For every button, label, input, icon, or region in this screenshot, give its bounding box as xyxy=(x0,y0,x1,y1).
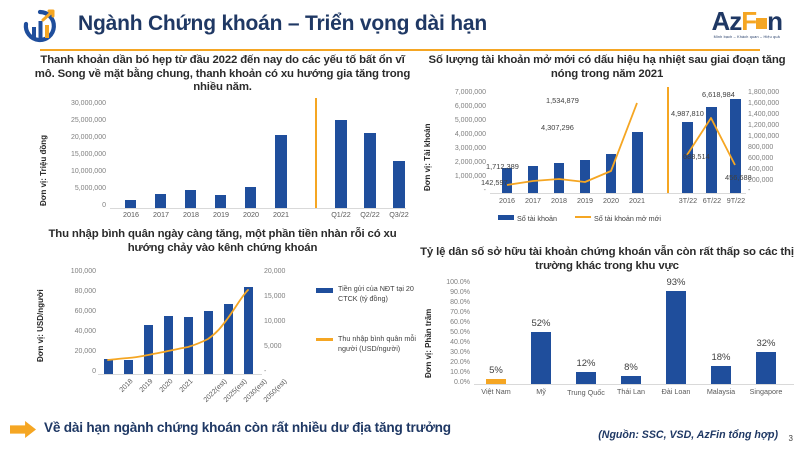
ownership-data-label: 93% xyxy=(666,277,686,288)
ownership-data-label: 32% xyxy=(756,338,776,349)
ownership-bar xyxy=(666,291,686,384)
chart-growth-logo-icon xyxy=(22,8,64,44)
accounts-data-label: 6,618,984 xyxy=(702,90,735,99)
ownership-bar-highlight xyxy=(486,379,506,384)
liquidity-bar xyxy=(245,187,256,208)
azfin-f: F xyxy=(741,6,756,36)
liquidity-bar xyxy=(275,135,287,208)
income-legend-item: Thu nhập bình quân mỗi người (USD/người) xyxy=(338,334,416,353)
ownership-bar xyxy=(576,372,596,384)
liquidity-ytick: 25,000,000 xyxy=(42,117,106,125)
liquidity-ytick: 5,000,000 xyxy=(42,185,106,193)
page-title: Ngành Chứng khoán – Triển vọng dài hạn xyxy=(78,12,487,36)
liquidity-ytick: 30,000,000 xyxy=(42,100,106,108)
liquidity-period-separator xyxy=(315,98,317,208)
liquidity-bar xyxy=(185,190,196,208)
ownership-ytick: 60.0% xyxy=(426,319,470,327)
header-divider xyxy=(40,49,760,51)
accounts-data-label: 4,307,296 xyxy=(541,123,574,132)
ownership-data-label: 8% xyxy=(621,362,641,373)
ownership-xtick: Đài Loan xyxy=(654,388,698,396)
income-legend-item: Tiền gửi của NĐT tại 20 CTCK (tỷ đồng) xyxy=(338,284,416,303)
ownership-ytick: 20.0% xyxy=(426,359,470,367)
azfin-n: n xyxy=(767,6,782,36)
income-plot: Đơn vị: USD/người 100,000 80,000 60,000 … xyxy=(30,266,415,416)
liquidity-xtick: Q3/22 xyxy=(378,211,420,219)
legend-line-swatch-icon xyxy=(316,338,333,341)
azfin-logo: AzFn Minh bạch – Khách quan – Hiệu quả xyxy=(711,8,782,39)
accounts-data-label: 1,534,879 xyxy=(546,96,579,105)
income-chart-title: Thu nhập bình quân ngày càng tăng, một p… xyxy=(30,228,415,255)
ownership-ytick: 90.0% xyxy=(426,289,470,297)
ownership-ytick: 50.0% xyxy=(426,329,470,337)
liquidity-bar xyxy=(364,133,376,208)
ownership-ytick: 100.0% xyxy=(426,279,470,287)
accounts-xtick: 2021 xyxy=(617,197,657,205)
ownership-ytick: 80.0% xyxy=(426,299,470,307)
azfin-az: Az xyxy=(711,6,741,36)
liquidity-chart-title: Thanh khoản dần bó hẹp từ đầu 2022 đến n… xyxy=(30,54,415,95)
ownership-data-label: 5% xyxy=(486,365,506,376)
azfin-wordmark: AzFn xyxy=(711,8,782,34)
accounts-data-label: 1,712,389 xyxy=(486,162,519,171)
ownership-xtick: Việt Nam xyxy=(474,388,518,396)
ownership-ytick: 40.0% xyxy=(426,339,470,347)
source-note: (Nguồn: SSC, VSD, AzFin tổng hợp) xyxy=(598,429,778,441)
panel-accounts: Số lượng tài khoản mở mới có dấu hiệu hạ… xyxy=(418,54,796,240)
accounts-data-label: 142,597 xyxy=(481,178,508,187)
liquidity-bar xyxy=(393,161,405,208)
liquidity-bar xyxy=(215,195,226,208)
accounts-chart-title: Số lượng tài khoản mở mới có dấu hiệu hạ… xyxy=(418,54,796,81)
accounts-plot: Đơn vị: Tài khoản 7,000,000 6,000,000 5,… xyxy=(418,87,796,240)
liquidity-x-axis xyxy=(110,208,406,209)
liquidity-bar xyxy=(155,194,166,208)
legend-line-swatch-icon xyxy=(575,216,591,219)
panel-income: Thu nhập bình quân ngày càng tăng, một p… xyxy=(30,228,415,418)
accounts-data-label: 688,514 xyxy=(683,152,710,161)
accounts-legend-item: Số tài khoản mở mới xyxy=(594,214,661,223)
page-number: 3 xyxy=(789,434,793,443)
liquidity-ytick: 20,000,000 xyxy=(42,134,106,142)
ownership-chart-title: Tỷ lệ dân số sở hữu tài khoản chứng khoá… xyxy=(418,246,796,273)
liquidity-ytick: 10,000,000 xyxy=(42,168,106,176)
ownership-x-axis xyxy=(474,384,794,385)
slide-header: Ngành Chứng khoán – Triển vọng dài hạn A… xyxy=(0,0,800,52)
liquidity-ytick: 0 xyxy=(42,202,106,210)
azfin-tagline: Minh bạch – Khách quan – Hiệu quả xyxy=(711,35,782,39)
ownership-plot: Đơn vị: Phần trăm 100.0% 90.0% 80.0% 70.… xyxy=(418,278,796,418)
slide-root: Ngành Chứng khoán – Triển vọng dài hạn A… xyxy=(0,0,800,450)
arrow-right-icon xyxy=(10,421,36,438)
panel-ownership: Tỷ lệ dân số sở hữu tài khoản chứng khoá… xyxy=(418,246,796,418)
liquidity-ytick: 15,000,000 xyxy=(42,151,106,159)
liquidity-xtick: 2021 xyxy=(260,211,302,219)
ownership-ytick: 70.0% xyxy=(426,309,470,317)
legend-bar-swatch-icon xyxy=(498,215,514,220)
ownership-ytick: 10.0% xyxy=(426,369,470,377)
liquidity-plot: Đơn vị: Triệu đồng 30,000,000 25,000,000… xyxy=(30,98,415,224)
panel-liquidity: Thanh khoản dần bó hẹp từ đầu 2022 đến n… xyxy=(30,54,415,224)
ownership-xtick: Singapore xyxy=(744,388,788,396)
accounts-data-label: 456,688 xyxy=(725,173,752,182)
ownership-data-label: 18% xyxy=(711,352,731,363)
ownership-data-label: 12% xyxy=(576,358,596,369)
ownership-bar xyxy=(756,352,776,384)
liquidity-bar xyxy=(335,120,347,208)
accounts-legend-item: Số tài khoản xyxy=(517,214,557,223)
ownership-bar xyxy=(711,366,731,384)
ownership-bar xyxy=(531,332,551,384)
accounts-xtick: 9T/22 xyxy=(716,197,756,205)
accounts-legend: Số tài khoản Số tài khoản mở mới xyxy=(498,214,661,223)
ownership-bar xyxy=(621,376,641,384)
legend-bar-swatch-icon xyxy=(316,288,333,293)
ownership-xtick: Trung Quốc xyxy=(564,388,608,397)
accounts-data-label: 4,987,810 xyxy=(671,109,704,118)
ownership-xtick: Mỹ xyxy=(519,388,563,396)
azfin-i-square-icon xyxy=(756,18,767,29)
ownership-ytick: 30.0% xyxy=(426,349,470,357)
ownership-xtick: Malaysia xyxy=(699,388,743,396)
ownership-ytick: 0.0% xyxy=(426,379,470,387)
liquidity-bar xyxy=(125,200,136,208)
ownership-data-label: 52% xyxy=(531,318,551,329)
footer-takeaway: Về dài hạn ngành chứng khoán còn rất nhi… xyxy=(44,420,451,435)
ownership-xtick: Thái Lan xyxy=(609,388,653,396)
